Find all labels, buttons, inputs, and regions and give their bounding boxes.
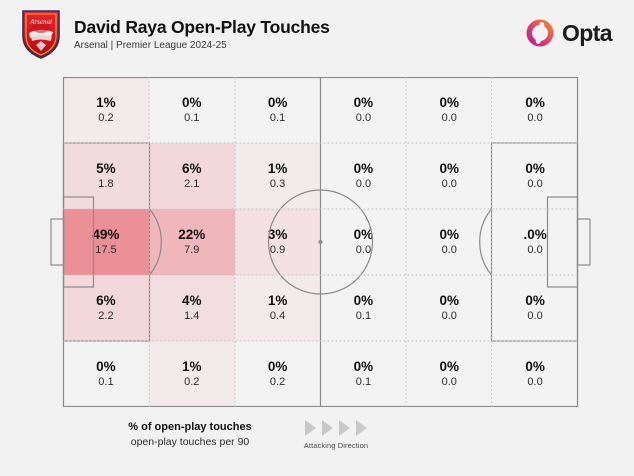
zone-percent: 0% (96, 360, 116, 374)
zone-cell: 0%0.0 (406, 77, 492, 143)
zone-cell: 0%0.1 (321, 341, 407, 407)
zone-percent: 0% (182, 96, 202, 110)
zone-cell: 0%0.1 (149, 77, 235, 143)
zone-cell: 49%17.5 (63, 209, 149, 275)
zone-per90: 0.0 (442, 179, 457, 191)
direction-label: Attacking Direction (276, 441, 396, 450)
zone-cell: 0%0.0 (492, 143, 578, 209)
zone-per90: 0.0 (356, 245, 371, 257)
zone-cell: 3%0.9 (235, 209, 321, 275)
zone-per90: 7.9 (184, 245, 199, 257)
zone-per90: 0.3 (270, 179, 285, 191)
direction-arrow-icon (305, 420, 316, 436)
zone-percent: 49% (92, 228, 119, 242)
zone-percent: 3% (268, 228, 288, 242)
zone-cell: 6%2.2 (63, 275, 149, 341)
zone-percent: 0% (439, 162, 459, 176)
zone-percent: 4% (182, 294, 202, 308)
chart-header: Arsenal David Raya Open-Play Touches Ars… (0, 0, 634, 68)
zone-percent: 0% (525, 162, 545, 176)
zone-cell: 0%0.0 (406, 143, 492, 209)
direction-arrow-icon (339, 420, 350, 436)
zone-per90: 0.1 (98, 377, 113, 389)
zone-per90: 0.1 (270, 113, 285, 125)
legend-primary-label: % of open-play touches (100, 420, 280, 435)
chart-footer: % of open-play touches open-play touches… (0, 415, 634, 476)
zone-percent: 0% (354, 162, 374, 176)
zone-cell: 0%0.1 (321, 275, 407, 341)
zone-cell: 1%0.2 (63, 77, 149, 143)
svg-text:Arsenal: Arsenal (29, 18, 52, 26)
zone-cell: 0%0.0 (492, 275, 578, 341)
zone-percent: 0% (525, 360, 545, 374)
zone-percent: 0% (525, 294, 545, 308)
zone-grid: 1%0.20%0.10%0.10%0.00%0.00%0.05%1.86%2.1… (63, 77, 578, 407)
opta-wordmark: Opta (562, 22, 612, 45)
zone-per90: 17.5 (95, 245, 116, 257)
zone-percent: 0% (354, 228, 374, 242)
zone-percent: .0% (523, 228, 546, 242)
zone-per90: 0.1 (356, 377, 371, 389)
title-block: David Raya Open-Play Touches Arsenal | P… (74, 17, 330, 51)
zone-per90: 0.0 (527, 245, 542, 257)
zone-per90: 0.0 (442, 311, 457, 323)
zone-cell: .0%0.0 (492, 209, 578, 275)
zone-percent: 22% (178, 228, 205, 242)
zone-per90: 0.2 (184, 377, 199, 389)
zone-per90: 0.0 (527, 179, 542, 191)
zone-per90: 0.0 (527, 377, 542, 389)
opta-logo-mark (525, 18, 555, 48)
pitch-heatmap: 1%0.20%0.10%0.10%0.00%0.00%0.05%1.86%2.1… (63, 77, 578, 407)
zone-cell: 0%0.0 (321, 209, 407, 275)
zone-per90: 0.9 (270, 245, 285, 257)
zone-percent: 0% (268, 96, 288, 110)
zone-per90: 1.8 (98, 179, 113, 191)
zone-percent: 0% (268, 360, 288, 374)
zone-percent: 5% (96, 162, 116, 176)
zone-percent: 0% (439, 228, 459, 242)
zone-percent: 0% (354, 96, 374, 110)
zone-cell: 0%0.0 (492, 341, 578, 407)
zone-percent: 0% (354, 360, 374, 374)
zone-per90: 0.0 (527, 113, 542, 125)
zone-cell: 0%0.0 (321, 77, 407, 143)
page-title: David Raya Open-Play Touches (74, 17, 330, 37)
zone-cell: 1%0.2 (149, 341, 235, 407)
zone-cell: 1%0.4 (235, 275, 321, 341)
chart-subtitle: Arsenal | Premier League 2024-25 (74, 40, 330, 51)
zone-per90: 0.0 (442, 245, 457, 257)
zone-percent: 1% (268, 294, 288, 308)
zone-cell: 0%0.0 (406, 275, 492, 341)
zone-cell: 0%0.0 (406, 209, 492, 275)
zone-per90: 0.1 (184, 113, 199, 125)
zone-cell: 0%0.0 (406, 341, 492, 407)
zone-percent: 6% (96, 294, 116, 308)
zone-per90: 0.2 (98, 113, 113, 125)
zone-per90: 0.0 (442, 113, 457, 125)
zone-percent: 1% (268, 162, 288, 176)
zone-cell: 22%7.9 (149, 209, 235, 275)
zone-cell: 0%0.0 (492, 77, 578, 143)
zone-cell: 4%1.4 (149, 275, 235, 341)
zone-percent: 0% (439, 294, 459, 308)
zone-per90: 1.4 (184, 311, 199, 323)
zone-percent: 1% (182, 360, 202, 374)
legend-secondary-label: open-play touches per 90 (100, 435, 280, 449)
zone-percent: 6% (182, 162, 202, 176)
zone-cell: 0%0.1 (235, 77, 321, 143)
zone-percent: 0% (354, 294, 374, 308)
attacking-direction: Attacking Direction (276, 420, 396, 450)
zone-cell: 1%0.3 (235, 143, 321, 209)
zone-percent: 0% (525, 96, 545, 110)
zone-cell: 0%0.0 (321, 143, 407, 209)
zone-percent: 0% (439, 360, 459, 374)
direction-arrow-icon (356, 420, 367, 436)
zone-per90: 0.4 (270, 311, 285, 323)
zone-cell: 5%1.8 (63, 143, 149, 209)
zone-per90: 0.2 (270, 377, 285, 389)
direction-arrow-icon (322, 420, 333, 436)
zone-per90: 0.0 (442, 377, 457, 389)
zone-per90: 0.1 (356, 311, 371, 323)
zone-cell: 0%0.2 (235, 341, 321, 407)
legend: % of open-play touches open-play touches… (100, 420, 280, 449)
zone-per90: 0.0 (527, 311, 542, 323)
zone-per90: 2.2 (98, 311, 113, 323)
arsenal-crest: Arsenal (18, 8, 64, 60)
zone-cell: 6%2.1 (149, 143, 235, 209)
zone-per90: 2.1 (184, 179, 199, 191)
direction-arrows (276, 420, 396, 436)
opta-brand: Opta (525, 18, 612, 48)
zone-percent: 0% (439, 96, 459, 110)
zone-cell: 0%0.1 (63, 341, 149, 407)
zone-percent: 1% (96, 96, 116, 110)
zone-per90: 0.0 (356, 113, 371, 125)
zone-per90: 0.0 (356, 179, 371, 191)
